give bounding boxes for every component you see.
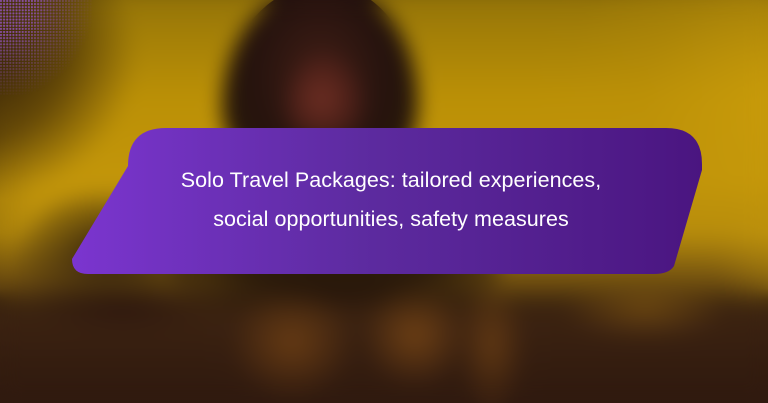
header-image-canvas: Solo Travel Packages: tailored experienc… xyxy=(0,0,768,403)
title-banner: Solo Travel Packages: tailored experienc… xyxy=(62,126,710,276)
halftone-dot-pattern-icon xyxy=(0,0,92,96)
banner-background-path xyxy=(72,128,702,274)
title-banner-shape xyxy=(62,126,710,276)
